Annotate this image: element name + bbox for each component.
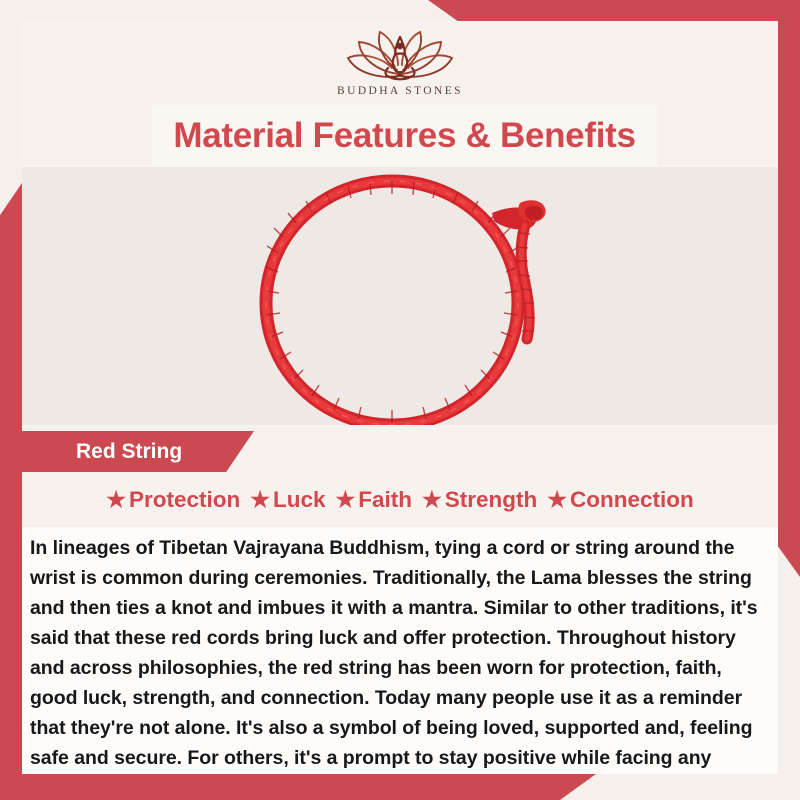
- benefits-row: ★ Protection ★ Luck ★ Faith ★ Strength ★…: [22, 476, 778, 524]
- lotus-meditation-icon: [341, 24, 459, 86]
- decorative-bottom-band: [0, 774, 800, 800]
- benefit-item: ★ Protection: [101, 487, 245, 513]
- title-banner: Material Features & Benefits: [152, 105, 657, 167]
- star-icon: ★: [422, 489, 442, 511]
- benefit-label: Luck: [273, 487, 326, 513]
- benefit-label: Faith: [358, 487, 412, 513]
- decorative-right-band: [778, 21, 800, 577]
- infographic-page: BUDDHA STONES Material Features & Benefi…: [0, 0, 800, 800]
- ribbon-text: Red String: [22, 440, 182, 464]
- benefit-item: ★ Connection: [542, 487, 698, 513]
- decorative-top-right-band: [0, 0, 800, 21]
- star-icon: ★: [547, 489, 567, 511]
- benefit-item: ★ Strength: [417, 487, 542, 513]
- star-icon: ★: [106, 489, 126, 511]
- description-paragraph: In lineages of Tibetan Vajrayana Buddhis…: [30, 533, 760, 774]
- star-icon: ★: [250, 489, 270, 511]
- content-canvas: BUDDHA STONES Material Features & Benefi…: [22, 21, 778, 774]
- brand-wordmark: BUDDHA STONES: [337, 85, 463, 97]
- decorative-left-band: [0, 183, 22, 800]
- description-block: In lineages of Tibetan Vajrayana Buddhis…: [22, 527, 778, 774]
- page-title: Material Features & Benefits: [173, 116, 635, 156]
- section-ribbon-label: Red String: [22, 431, 254, 472]
- red-braided-string-bracelet-photo: [22, 167, 778, 425]
- benefit-label: Protection: [129, 487, 240, 513]
- star-icon: ★: [336, 489, 356, 511]
- brand-logo: BUDDHA STONES: [22, 21, 778, 107]
- benefit-item: ★ Faith: [331, 487, 417, 513]
- benefit-label: Connection: [570, 487, 694, 513]
- benefit-item: ★ Luck: [245, 487, 330, 513]
- hero-image-area: [22, 167, 778, 425]
- benefit-label: Strength: [445, 487, 538, 513]
